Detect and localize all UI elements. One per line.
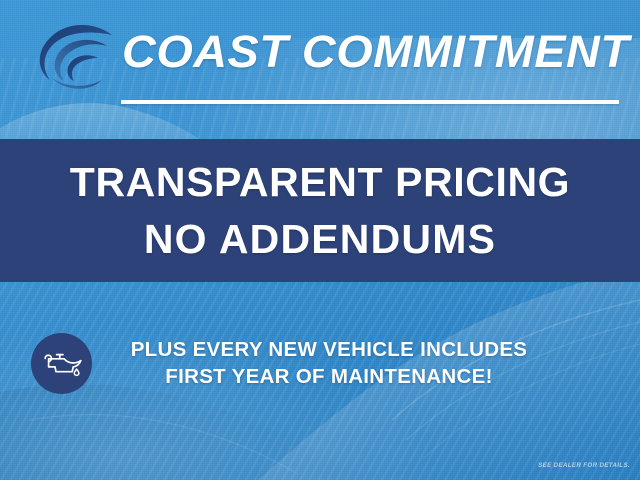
maintenance-badge (31, 333, 92, 394)
coast-commitment-banner: COAST COMMITMENT TRANSPARENT PRICING NO … (0, 0, 640, 480)
bonus-line-first-year-maintenance: FIRST YEAR OF MAINTENANCE! (92, 363, 566, 390)
page-title: COAST COMMITMENT (122, 22, 640, 82)
maintenance-bonus-text: PLUS EVERY NEW VEHICLE INCLUDES FIRST YE… (92, 336, 640, 390)
banner-header: COAST COMMITMENT (0, 0, 640, 118)
oil-can-icon (42, 350, 82, 377)
coast-wave-swirl-logo-icon (28, 16, 124, 90)
promise-band: TRANSPARENT PRICING NO ADDENDUMS (0, 139, 640, 282)
promise-line-transparent-pricing: TRANSPARENT PRICING (70, 154, 570, 211)
promise-line-no-addendums: NO ADDENDUMS (144, 211, 496, 268)
header-divider (121, 100, 619, 104)
bonus-line-plus-every-new-vehicle: PLUS EVERY NEW VEHICLE INCLUDES (92, 336, 566, 363)
disclaimer-text: SEE DEALER FOR DETAILS. (538, 461, 630, 470)
maintenance-bonus-row: PLUS EVERY NEW VEHICLE INCLUDES FIRST YE… (0, 325, 640, 401)
